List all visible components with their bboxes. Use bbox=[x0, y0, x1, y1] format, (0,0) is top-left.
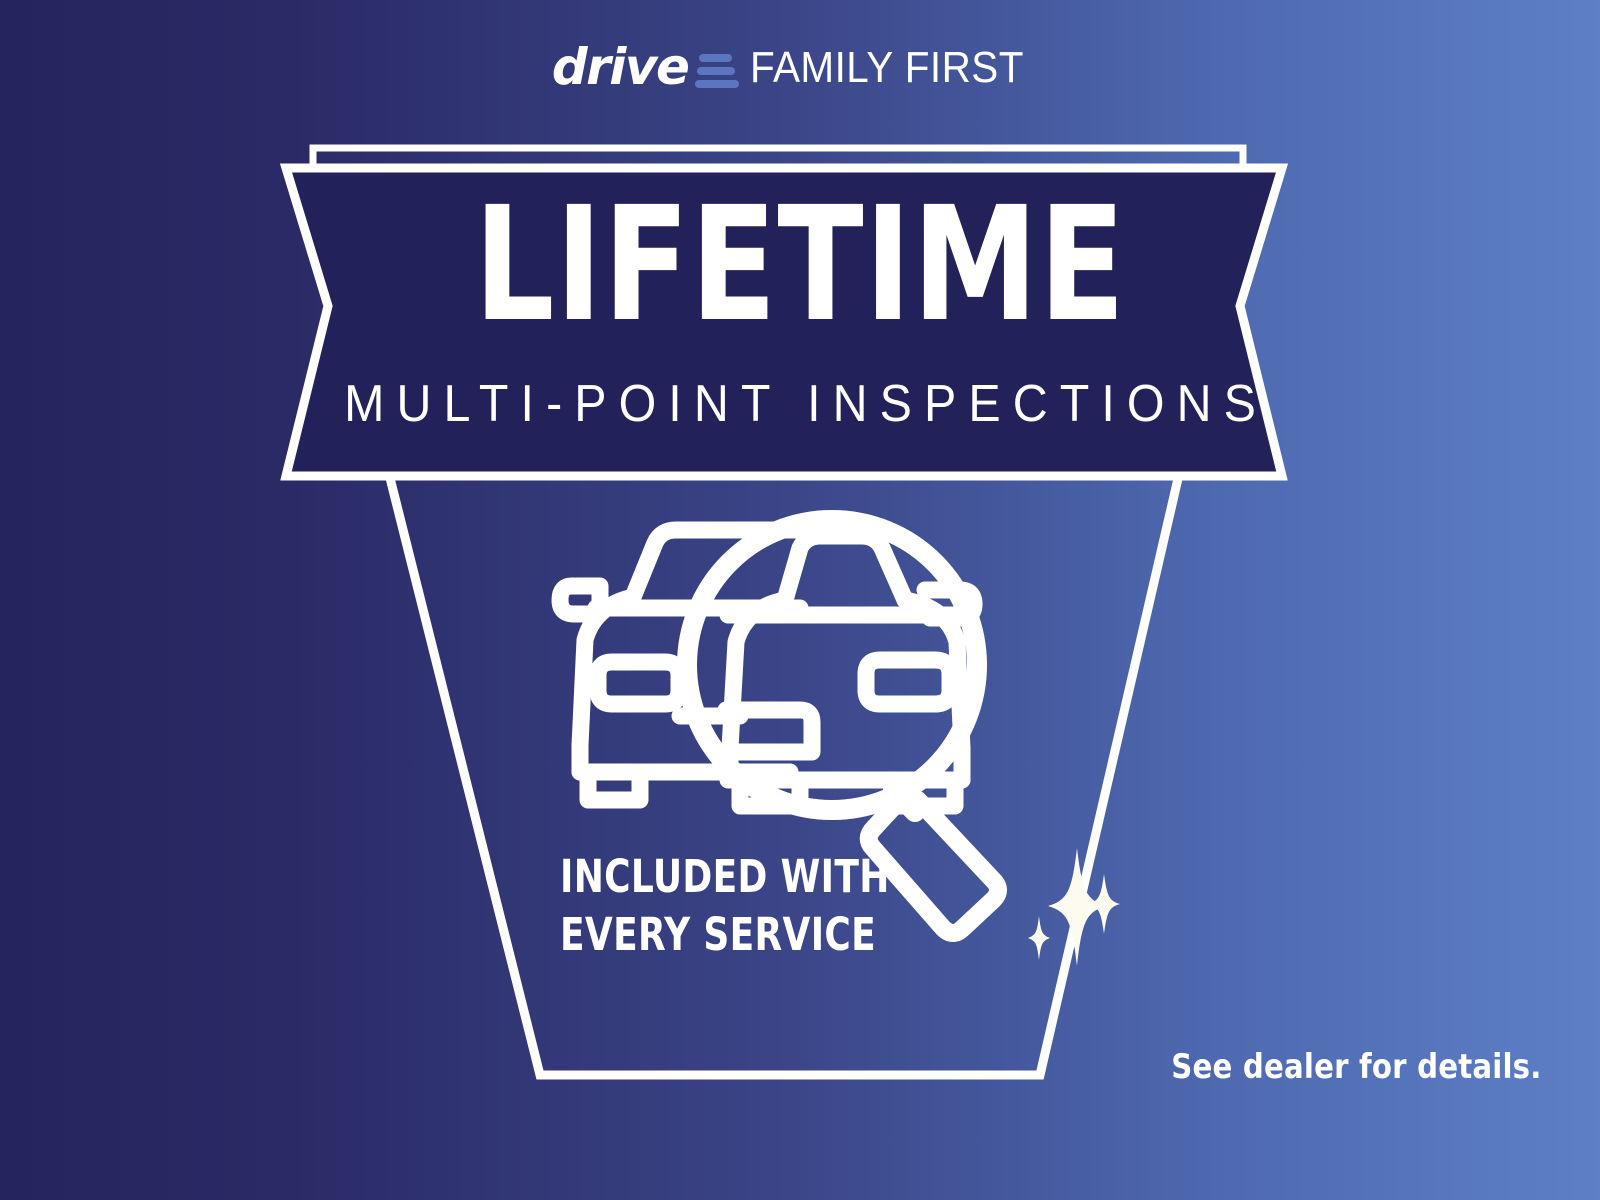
callout-line-2: EVERY SERVICE bbox=[560, 906, 890, 964]
sparkle-icon-group bbox=[1028, 848, 1120, 966]
disclaimer-text: See dealer for details. bbox=[1172, 1050, 1542, 1084]
callout-line-1: INCLUDED WITH bbox=[560, 848, 890, 906]
page-title: LIFETIME bbox=[160, 186, 1440, 344]
sparkle-icon bbox=[1028, 916, 1050, 960]
sparkle-icon bbox=[1088, 874, 1120, 934]
promo-graphic: drive FAMILY FIRST bbox=[0, 0, 1600, 1200]
callout-text: INCLUDED WITH EVERY SERVICE bbox=[560, 848, 890, 964]
page-subtitle: MULTI-POINT INSPECTIONS bbox=[56, 378, 1544, 430]
